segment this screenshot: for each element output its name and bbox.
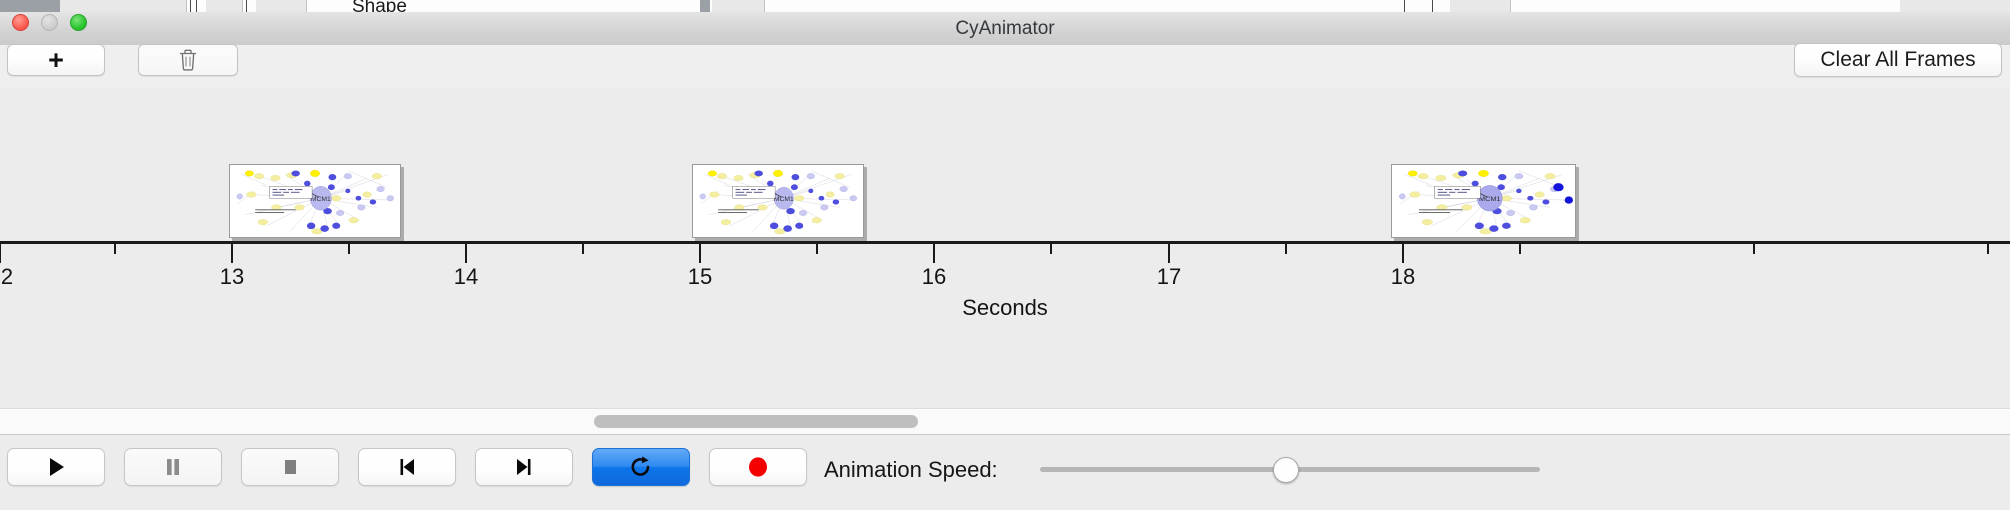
play-icon (46, 456, 66, 478)
window-title: CyAnimator (0, 12, 2010, 45)
ruler-label: 15 (688, 264, 712, 290)
ruler-tick-major (1402, 244, 1404, 263)
ruler-tick-minor (1519, 244, 1521, 254)
add-frame-button[interactable]: + (7, 44, 105, 76)
ruler-tick-major (699, 244, 701, 263)
transport-bar: Animation Speed: (0, 434, 2010, 510)
svg-text:MCM1: MCM1 (774, 196, 794, 203)
clear-all-frames-button[interactable]: Clear All Frames (1794, 43, 2002, 77)
toolbar (0, 45, 2010, 89)
stop-icon (280, 456, 300, 478)
skip-to-end-button[interactable] (475, 448, 573, 486)
ruler-label: 2 (1, 264, 13, 290)
ruler-tick-minor (1753, 244, 1755, 254)
ruler-tick-major (465, 244, 467, 263)
ruler-tick-minor (114, 244, 116, 254)
skip-back-icon (396, 456, 418, 478)
play-button[interactable] (7, 448, 105, 486)
keyframe-thumbnail[interactable]: MCM1 (229, 164, 401, 238)
ruler-tick-major (933, 244, 935, 263)
ruler-tick-major (1168, 244, 1170, 263)
ruler-tick-minor (348, 244, 350, 254)
skip-to-start-button[interactable] (358, 448, 456, 486)
stop-button[interactable] (241, 448, 339, 486)
pause-button[interactable] (124, 448, 222, 486)
loop-icon (629, 455, 653, 479)
timeline-ruler-line (0, 241, 2010, 244)
ruler-label: 18 (1391, 264, 1415, 290)
ruler-label: 16 (922, 264, 946, 290)
network-graph-icon: MCM1 (1394, 167, 1573, 235)
keyframe-network-preview: MCM1 (1394, 167, 1573, 235)
ruler-tick-minor (1987, 244, 1989, 254)
pause-icon (163, 456, 183, 478)
loop-button[interactable] (592, 448, 690, 486)
network-graph-icon: MCM1 (232, 167, 398, 235)
network-graph-icon: MCM1 (695, 167, 861, 235)
clear-all-frames-label: Clear All Frames (1820, 48, 1975, 72)
ruler-tick-major (0, 244, 1, 263)
svg-text:MCM1: MCM1 (1479, 196, 1501, 203)
ruler-tick-minor (1050, 244, 1052, 254)
skip-forward-icon (513, 456, 535, 478)
timeline-panel[interactable]: MCM1 (0, 88, 2010, 408)
plus-icon: + (48, 47, 64, 74)
delete-frame-button[interactable] (138, 44, 238, 76)
ruler-tick-minor (816, 244, 818, 254)
ruler-tick-minor (1285, 244, 1287, 254)
ruler-tick-major (231, 244, 233, 263)
keyframe-network-preview: MCM1 (695, 167, 861, 235)
animation-speed-label: Animation Speed: (824, 457, 998, 483)
ruler-label: 13 (220, 264, 244, 290)
timeline-scrollbar[interactable] (0, 408, 2010, 436)
cyanimator-window: Shape CyAnimator + Clear All Frames (0, 0, 2010, 510)
ruler-label: 14 (454, 264, 478, 290)
animation-speed-slider-thumb[interactable] (1273, 457, 1299, 483)
record-icon (746, 455, 770, 479)
svg-text:MCM1: MCM1 (311, 196, 331, 203)
trash-icon (178, 48, 198, 72)
keyframe-thumbnail[interactable]: MCM1 (1391, 164, 1576, 238)
keyframe-network-preview: MCM1 (232, 167, 398, 235)
axis-title-seconds: Seconds (0, 295, 2010, 321)
record-button[interactable] (709, 448, 807, 486)
scrollbar-thumb[interactable] (594, 415, 918, 428)
keyframe-thumbnail[interactable]: MCM1 (692, 164, 864, 238)
ruler-tick-minor (582, 244, 584, 254)
ruler-label: 17 (1157, 264, 1181, 290)
